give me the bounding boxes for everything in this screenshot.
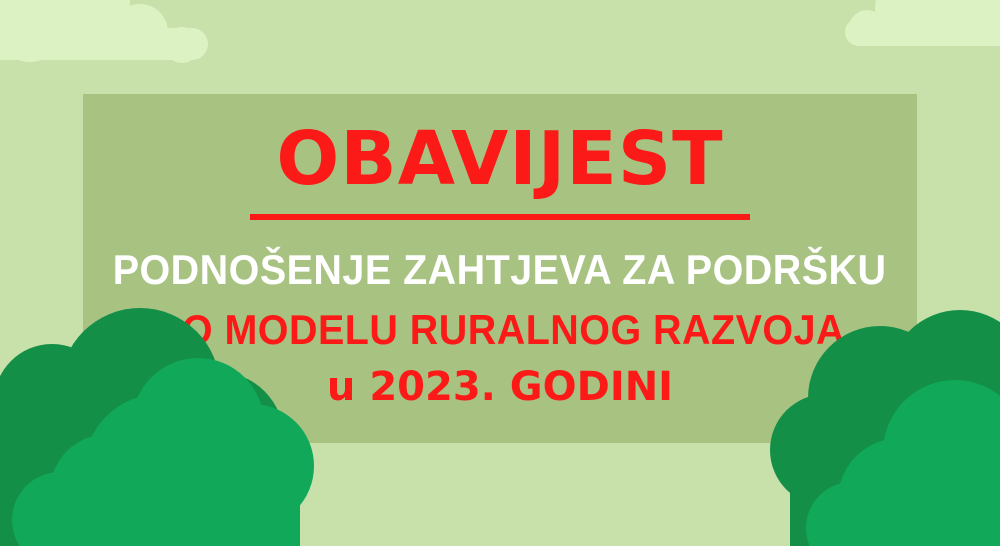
page-title: OBAVIJEST <box>276 116 723 202</box>
title-divider <box>250 214 750 220</box>
subtitle-line-2: PO MODELU RURALNOG RAZVOJA <box>155 306 845 354</box>
subtitle-line-3: u 2023. GODINI <box>327 364 673 410</box>
subtitle-line-1: PODNOŠENJE ZAHTJEVA ZA PODRŠKU <box>113 246 887 294</box>
text-block: OBAVIJEST PODNOŠENJE ZAHTJEVA ZA PODRŠKU… <box>83 94 917 443</box>
notice-poster: OBAVIJEST PODNOŠENJE ZAHTJEVA ZA PODRŠKU… <box>0 0 1000 546</box>
